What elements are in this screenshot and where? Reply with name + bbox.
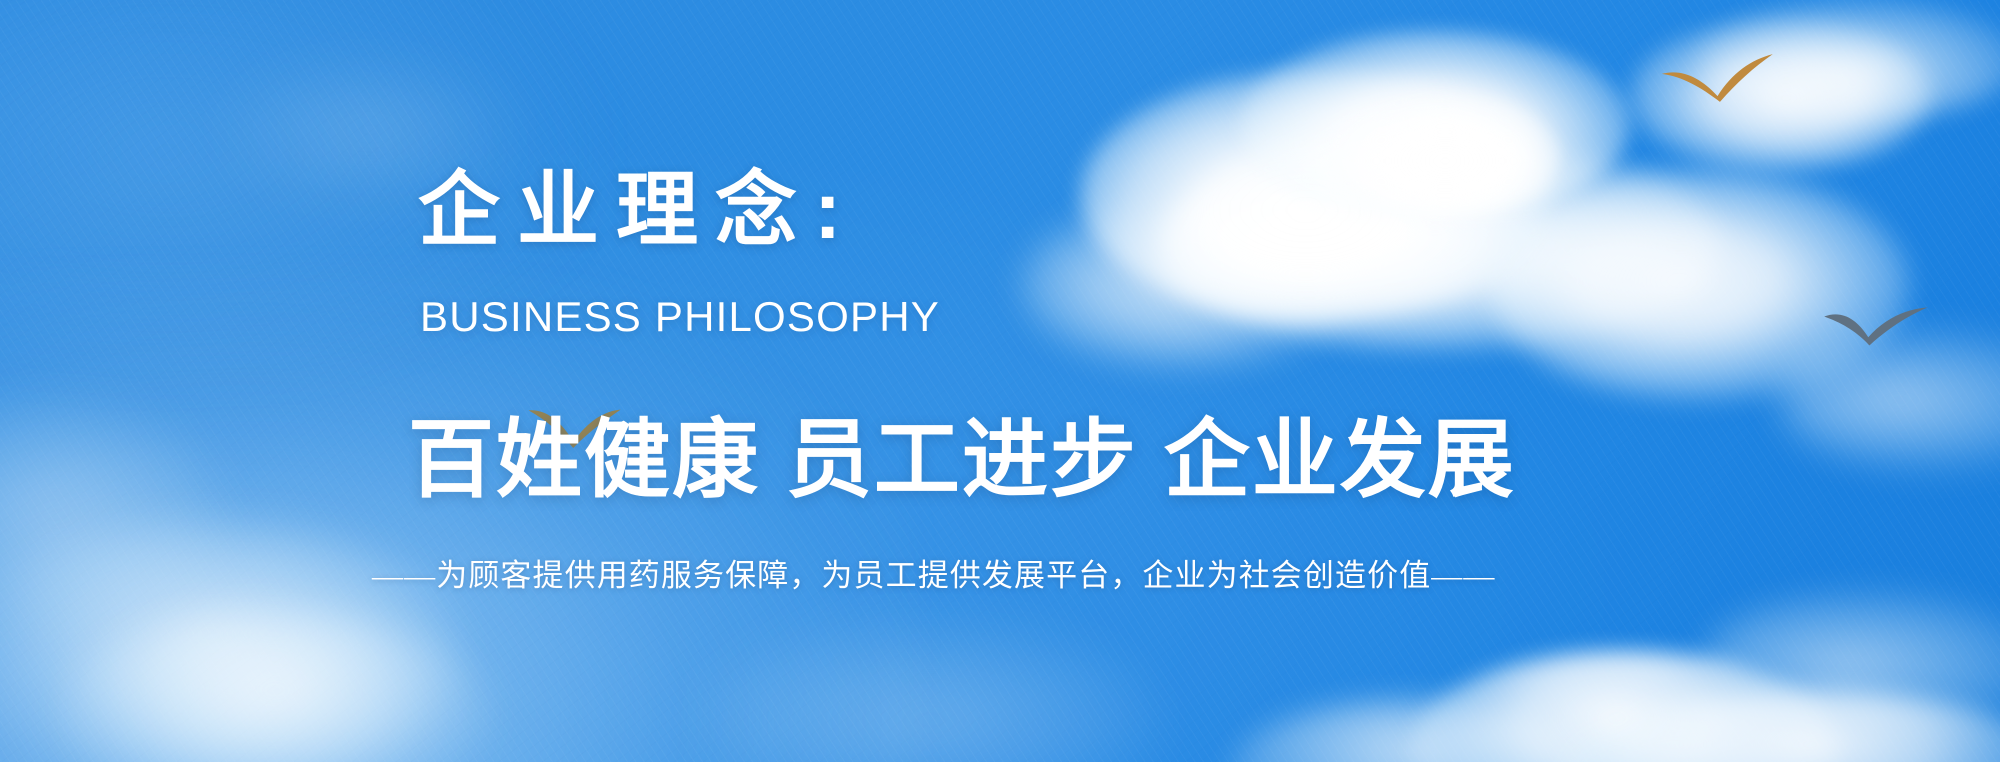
page-title-chinese: 企业理念:: [418, 170, 858, 252]
company-tagline: ——为顾客提供用药服务保障，为员工提供发展平台，企业为社会创造价值——: [372, 560, 1496, 591]
company-slogan: 百姓健康 员工进步 企业发展: [408, 414, 1516, 507]
business-philosophy-banner: 企业理念: BUSINESS PHILOSOPHY 百姓健康 员工进步 企业发展…: [0, 0, 2000, 762]
page-subtitle-english: BUSINESS PHILOSOPHY: [420, 296, 940, 338]
banner-text-block: 企业理念: BUSINESS PHILOSOPHY 百姓健康 员工进步 企业发展…: [0, 0, 2000, 762]
